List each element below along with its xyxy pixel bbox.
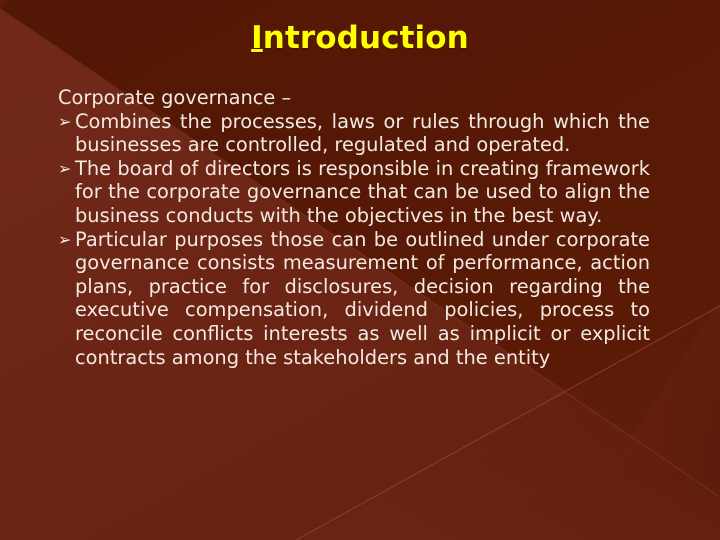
bullet-item-2: ➢The board of directors is responsible i… bbox=[58, 157, 650, 228]
bullet-text-2: The board of directors is responsible in… bbox=[75, 157, 650, 228]
title-container: Introduction bbox=[0, 22, 720, 55]
arrow-bullet-icon: ➢ bbox=[58, 228, 71, 252]
presentation-slide: Introduction Corporate governance – ➢Com… bbox=[0, 0, 720, 540]
title-remainder: ntroduction bbox=[263, 20, 469, 56]
bullet-text-1: Combines the processes, laws or rules th… bbox=[75, 110, 650, 157]
title-underlined-initial: I bbox=[251, 20, 263, 56]
page-title: Introduction bbox=[251, 22, 469, 55]
bullet-item-1: ➢Combines the processes, laws or rules t… bbox=[58, 110, 650, 157]
bullet-item-3: ➢Particular purposes those can be outlin… bbox=[58, 228, 650, 370]
body-content: Corporate governance – ➢Combines the pro… bbox=[58, 86, 650, 369]
lead-line: Corporate governance – bbox=[58, 86, 650, 110]
bullet-text-3: Particular purposes those can be outline… bbox=[75, 228, 650, 370]
arrow-bullet-icon: ➢ bbox=[58, 110, 71, 134]
arrow-bullet-icon: ➢ bbox=[58, 157, 71, 181]
